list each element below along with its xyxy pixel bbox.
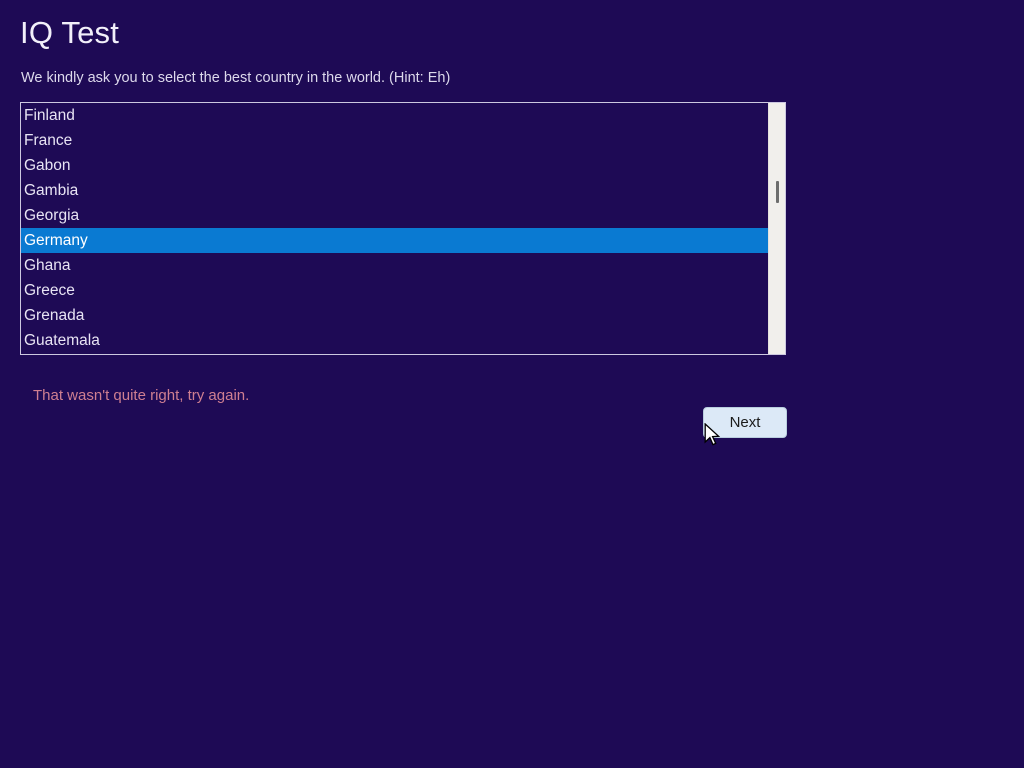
list-scrollbar-thumb[interactable] [776,181,779,203]
list-item[interactable]: France [21,128,769,153]
list-scrollbar[interactable] [768,103,785,354]
list-item[interactable]: Greece [21,278,769,303]
list-item[interactable]: Grenada [21,303,769,328]
list-item[interactable]: Guatemala [21,328,769,353]
iq-test-page: IQ Test We kindly ask you to select the … [0,0,1024,768]
list-item[interactable]: Gabon [21,153,769,178]
list-item[interactable]: Finland [21,103,769,128]
status-message: That wasn't quite right, try again. [33,386,249,406]
page-subtitle: We kindly ask you to select the best cou… [21,69,450,88]
list-item-selected[interactable]: Germany [21,228,769,253]
next-button[interactable]: Next [703,407,787,438]
list-item[interactable]: Georgia [21,203,769,228]
country-list-viewport[interactable]: Finland France Gabon Gambia Georgia Germ… [21,103,769,354]
page-title: IQ Test [20,13,119,53]
list-item[interactable]: Gambia [21,178,769,203]
country-listbox[interactable]: Finland France Gabon Gambia Georgia Germ… [20,102,786,355]
list-item[interactable]: Ghana [21,253,769,278]
